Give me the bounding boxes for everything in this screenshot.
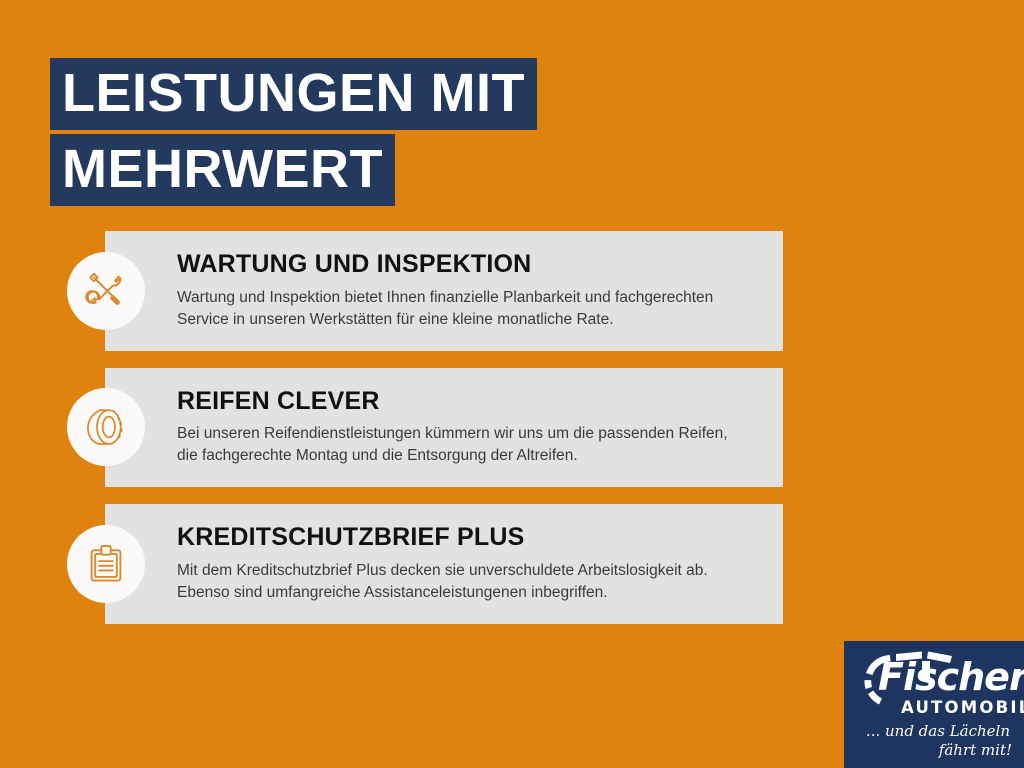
card-description: Mit dem Kreditschutzbrief Plus decken si… — [177, 560, 759, 604]
service-card-wartung-und-inspektion[interactable]: WARTUNG UND INSPEKTION Wartung und Inspe… — [105, 231, 783, 351]
service-card-list: WARTUNG UND INSPEKTION Wartung und Inspe… — [0, 231, 1024, 641]
card-title: REIFEN CLEVER — [177, 388, 759, 416]
card-title: KREDITSCHUTZBRIEF PLUS — [177, 524, 759, 552]
icon-circle — [67, 252, 145, 330]
card-description-line-1: Mit dem Kreditschutzbrief Plus decken si… — [177, 560, 759, 582]
service-card-kreditschutzbrief-plus[interactable]: KREDITSCHUTZBRIEF PLUS Mit dem Kreditsch… — [105, 504, 783, 624]
logo-tagline: ... und das Lächeln fährt mit! — [844, 715, 1024, 765]
page-title: LEISTUNGEN MIT MEHRWERT — [50, 58, 537, 210]
icon-circle — [67, 525, 145, 603]
card-description-line-2: Service in unseren Werkstätten für eine … — [177, 309, 759, 331]
card-content: KREDITSCHUTZBRIEF PLUS Mit dem Kreditsch… — [169, 524, 759, 604]
icon-circle — [67, 388, 145, 466]
clipboard-icon — [83, 541, 129, 587]
card-description-line-2: die fachgerechte Montag und die Entsorgu… — [177, 445, 759, 467]
logo-tagline-line-1: ... und das Lächeln — [866, 722, 1010, 740]
tire-icon — [83, 404, 129, 450]
service-card-reifen-clever[interactable]: REIFEN CLEVER Bei unseren Reifendienstle… — [105, 368, 783, 488]
card-description-line-2: Ebenso sind umfangreiche Assistanceleist… — [177, 582, 759, 604]
logo-brand-text: Fischer — [878, 655, 1024, 699]
fischer-automobile-logo: Fischer AUTOMOBILE ... und das Lächeln f… — [840, 641, 1024, 768]
card-description: Wartung und Inspektion bietet Ihnen fina… — [177, 287, 759, 331]
card-content: REIFEN CLEVER Bei unseren Reifendienstle… — [169, 388, 759, 468]
wrench-screwdriver-icon — [83, 268, 129, 314]
card-description-line-1: Wartung und Inspektion bietet Ihnen fina… — [177, 287, 759, 309]
logo-tagline-line-2: fährt mit! — [938, 741, 1012, 759]
page-title-line-1: LEISTUNGEN MIT — [50, 58, 537, 130]
page-title-line-2: MEHRWERT — [50, 134, 395, 206]
logo-tagline-script: ... und das Lächeln fährt mit! — [844, 715, 1024, 765]
card-content: WARTUNG UND INSPEKTION Wartung und Inspe… — [169, 251, 759, 331]
card-description: Bei unseren Reifendienstleistungen kümme… — [177, 423, 759, 467]
card-description-line-1: Bei unseren Reifendienstleistungen kümme… — [177, 423, 759, 445]
card-title: WARTUNG UND INSPEKTION — [177, 251, 759, 279]
